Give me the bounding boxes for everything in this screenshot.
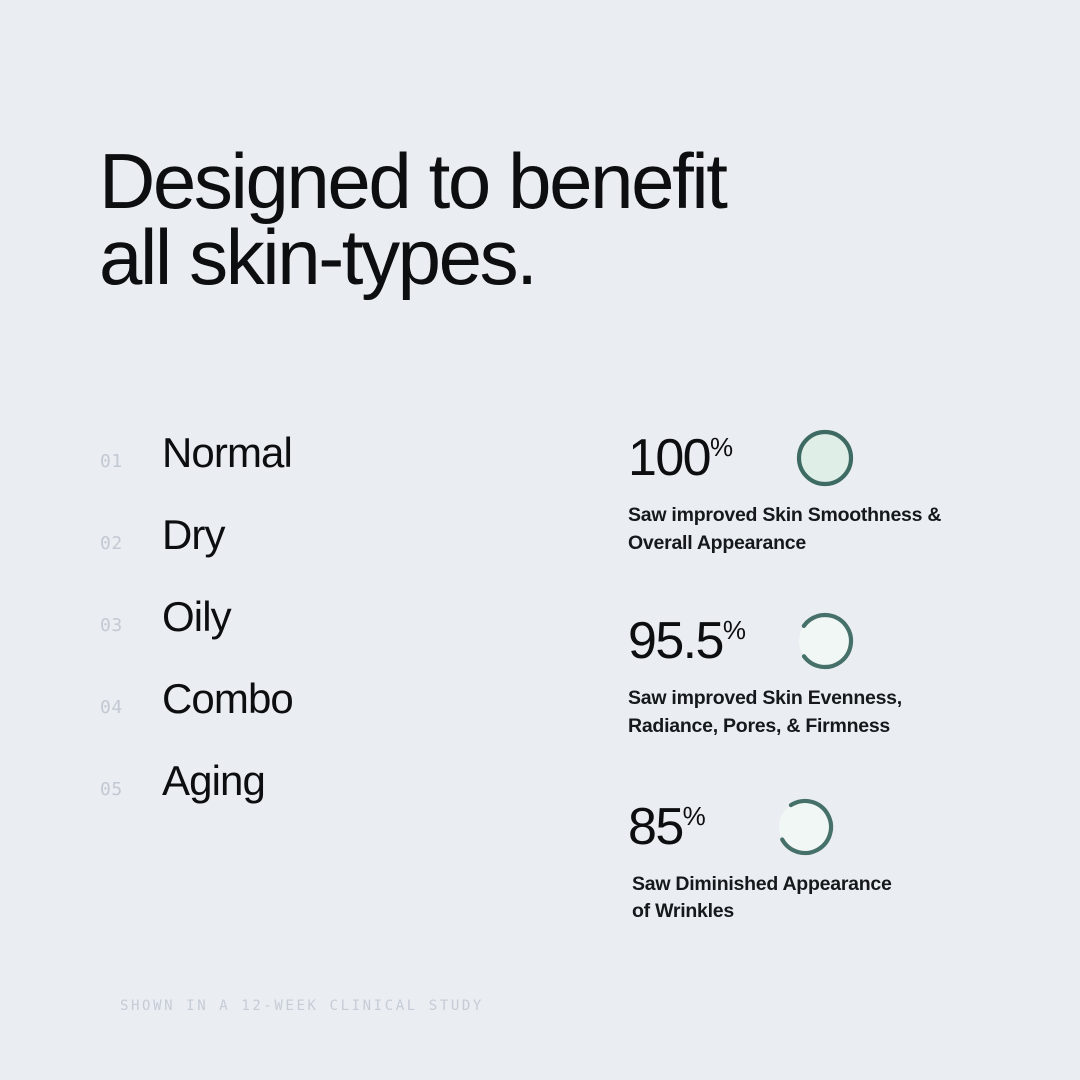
stat-number: 85 [628,801,683,853]
skin-types-list: 01 Normal 02 Dry 03 Oily 04 Combo 05 Agi… [100,432,530,842]
progress-ring-icon [773,795,837,859]
list-item-number: 04 [100,697,162,718]
stat-block: 100 % Saw improved Skin Smoothness & Ove… [628,420,1028,557]
stat-header-row: 85 % [628,789,1028,865]
stat-value: 95.5 % [628,615,745,667]
list-item-number: 05 [100,779,162,800]
stat-caption: Saw Diminished Appearance of Wrinkles [632,871,1028,926]
list-item-label: Oily [162,596,231,638]
stat-header-row: 100 % [628,420,1028,496]
list-item-label: Normal [162,432,292,474]
list-item-number: 02 [100,533,162,554]
progress-ring-svg [773,795,837,859]
progress-ring-svg [793,426,857,490]
list-item-label: Dry [162,514,225,556]
stat-block: 95.5 % Saw improved Skin Evenness, Radia… [628,603,1028,740]
progress-ring-icon [793,426,857,490]
list-item: 02 Dry [100,514,530,596]
stat-number: 95.5 [628,615,723,667]
list-item: 03 Oily [100,596,530,678]
percent-symbol: % [710,434,733,460]
list-item-label: Combo [162,678,293,720]
slide-canvas: Designed to benefit all skin-types. 01 N… [0,0,1080,1080]
stat-value: 100 % [628,432,733,484]
clinical-stats-group: 100 % Saw improved Skin Smoothness & Ove… [628,420,1028,962]
list-item: 04 Combo [100,678,530,760]
list-item: 01 Normal [100,432,530,514]
stat-value: 85 % [628,801,705,853]
percent-symbol: % [723,617,746,643]
footnote: SHOWN IN A 12-WEEK CLINICAL STUDY [120,998,484,1014]
progress-ring-svg [793,609,857,673]
list-item-label: Aging [162,760,265,802]
stat-caption: Saw improved Skin Smoothness & Overall A… [628,502,1028,557]
list-item: 05 Aging [100,760,530,842]
list-item-number: 03 [100,615,162,636]
stat-number: 100 [628,432,710,484]
percent-symbol: % [683,803,706,829]
list-item-number: 01 [100,451,162,472]
page-title: Designed to benefit all skin-types. [99,143,919,296]
progress-ring-icon [793,609,857,673]
stat-caption: Saw improved Skin Evenness, Radiance, Po… [628,685,1028,740]
stat-header-row: 95.5 % [628,603,1028,679]
stat-block: 85 % Saw Diminished Appearance of Wrinkl… [628,789,1028,926]
